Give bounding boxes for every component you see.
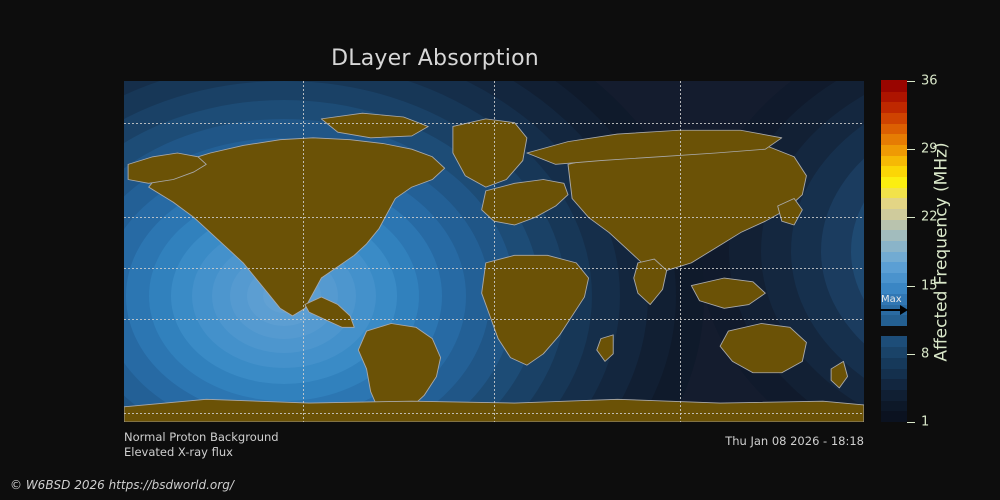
grid-lon-120e <box>680 81 681 422</box>
colorbar-band <box>881 144 907 155</box>
colorbar-axis-title-label: Affected Frequency (MHz) <box>932 142 952 361</box>
colorbar-band <box>881 230 907 241</box>
colorbar-band <box>881 187 907 198</box>
colorbar-band <box>881 336 907 347</box>
colorbar-tick <box>907 149 915 150</box>
colorbar-band <box>881 315 907 326</box>
colorbar-band <box>881 283 907 294</box>
colorbar-band <box>881 198 907 209</box>
colorbar-axis-title: Affected Frequency (MHz) <box>930 81 954 422</box>
copyright: © W6BSD 2026 https://bsdworld.org/ <box>10 478 234 492</box>
colorbar-tick-label: 8 <box>921 346 929 361</box>
colorbar-band <box>881 251 907 262</box>
colorbar-tick <box>907 422 915 423</box>
page-title: DLayer Absorption <box>0 46 870 71</box>
colorbar-band <box>881 389 907 400</box>
colorbar-band <box>881 411 907 422</box>
colorbar-tick <box>907 217 915 218</box>
colorbar-tick <box>907 286 915 287</box>
colorbar-band <box>881 123 907 134</box>
colorbar-band <box>881 102 907 113</box>
colorbar-tick <box>907 354 915 355</box>
colorbar-band <box>881 272 907 283</box>
colorbar-band <box>881 326 907 337</box>
colorbar-band <box>881 347 907 358</box>
colorbar-band <box>881 262 907 273</box>
colorbar-band <box>881 80 907 91</box>
colorbar-band <box>881 91 907 102</box>
colorbar-band <box>881 400 907 411</box>
world-map-panel[interactable] <box>124 81 864 422</box>
grid-lon-0 <box>494 81 495 422</box>
dlayer-absorption-figure: DLayer Absorption <box>0 0 1000 500</box>
colorbar-band <box>881 176 907 187</box>
colorbar-tick <box>907 81 915 82</box>
colorbar-band <box>881 219 907 230</box>
colorbar-band <box>881 166 907 177</box>
colorbar-tick-label: 1 <box>921 415 929 430</box>
note-xray-flux: Elevated X-ray flux <box>124 445 233 459</box>
timestamp: Thu Jan 08 2026 - 18:18 <box>725 434 864 448</box>
colorbar-band <box>881 357 907 368</box>
colorbar-band <box>881 240 907 251</box>
colorbar-band <box>881 368 907 379</box>
note-proton-background: Normal Proton Background <box>124 430 279 444</box>
colorbar-band <box>881 134 907 145</box>
colorbar-band <box>881 379 907 390</box>
colorbar-band <box>881 155 907 166</box>
colorbar-band <box>881 112 907 123</box>
colorbar[interactable]: Max <box>881 81 907 422</box>
grid-lon-120w <box>303 81 304 422</box>
colorbar-band <box>881 208 907 219</box>
